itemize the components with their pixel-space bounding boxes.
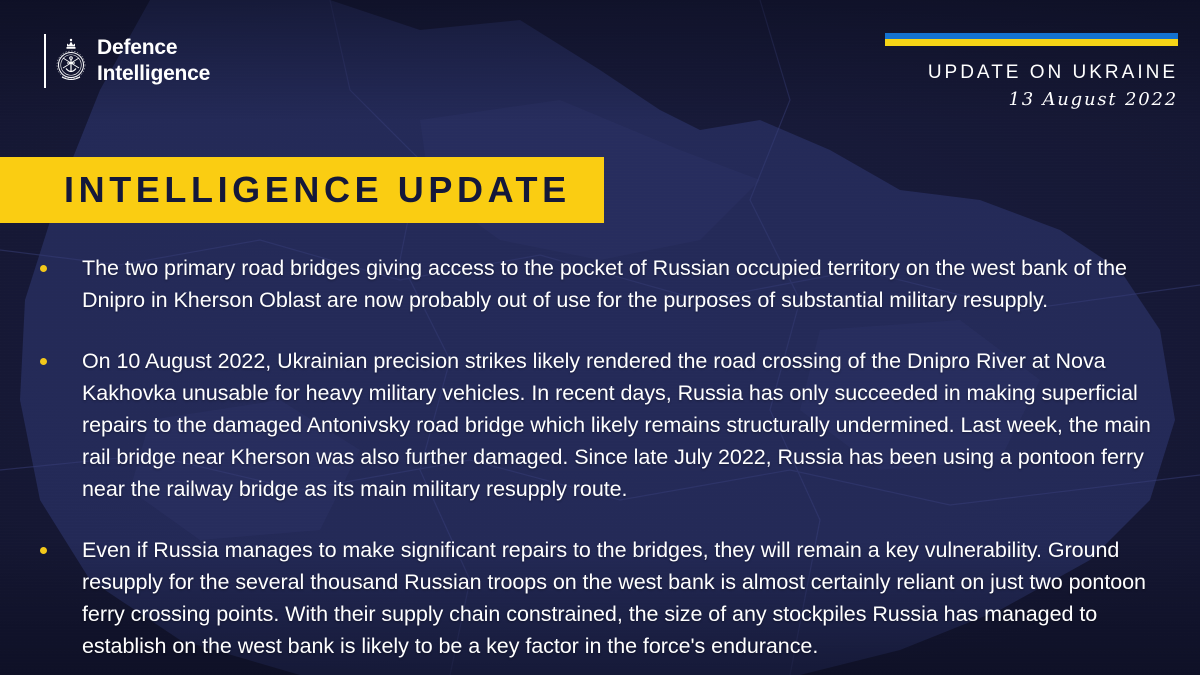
- bullet-text: The two primary road bridges giving acce…: [82, 252, 1180, 316]
- bullet-item: The two primary road bridges giving acce…: [40, 252, 1180, 316]
- ukraine-flag-bar-icon: [885, 33, 1178, 46]
- update-header-block: UPDATE ON UKRAINE 13 August 2022: [878, 33, 1178, 110]
- intelligence-update-graphic: Defence Intelligence UPDATE ON UKRAINE 1…: [0, 0, 1200, 675]
- bullet-dot-icon: [40, 547, 47, 554]
- intelligence-update-banner: INTELLIGENCE UPDATE: [0, 157, 604, 223]
- bullet-text: Even if Russia manages to make significa…: [82, 534, 1180, 662]
- bullet-list: The two primary road bridges giving acce…: [40, 252, 1180, 662]
- update-title: UPDATE ON UKRAINE: [878, 62, 1178, 84]
- bullet-text: On 10 August 2022, Ukrainian precision s…: [82, 345, 1180, 505]
- bullet-dot-icon: [40, 265, 47, 272]
- defence-intelligence-logo: Defence Intelligence: [44, 34, 210, 88]
- bullet-item: Even if Russia manages to make significa…: [40, 534, 1180, 662]
- banner-label: INTELLIGENCE UPDATE: [64, 169, 571, 211]
- flag-yellow-band: [885, 39, 1178, 46]
- bullet-item: On 10 August 2022, Ukrainian precision s…: [40, 345, 1180, 505]
- logo-divider-rule: [44, 34, 46, 88]
- mod-defence-intelligence-crest-icon: [56, 37, 86, 85]
- organisation-name: Defence Intelligence: [97, 35, 210, 87]
- update-date: 13 August 2022: [878, 89, 1178, 110]
- bullet-dot-icon: [40, 358, 47, 365]
